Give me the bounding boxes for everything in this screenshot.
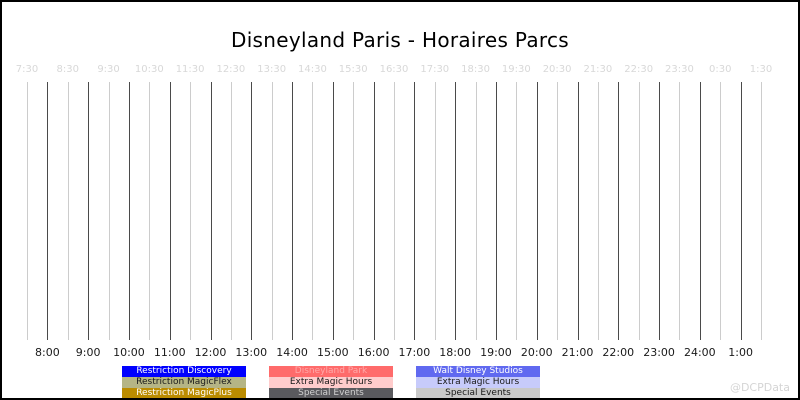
bottom-time-axis: 8:009:0010:0011:0012:0013:0014:0015:0016… [27,346,761,362]
bottom-tick-label: 15:00 [317,346,349,359]
gridline-major [496,82,497,340]
gridline-minor [312,82,313,340]
gridline-minor [476,82,477,340]
top-tick-label: 1:30 [750,64,772,75]
legend-column: Restriction DiscoveryRestriction MagicFl… [122,366,246,400]
top-tick-label: 0:30 [709,64,731,75]
top-tick-label: 21:30 [583,64,612,75]
gridline-minor [435,82,436,340]
bottom-tick-label: 22:00 [602,346,634,359]
gridline-minor [27,82,28,340]
bottom-tick-label: 9:00 [76,346,101,359]
gridline-major [537,82,538,340]
gridline-major [211,82,212,340]
watermark: @DCPData [730,381,790,394]
gridline-minor [557,82,558,340]
gridline-minor [720,82,721,340]
legend-entry[interactable]: Restriction MagicPlus [122,388,246,399]
bottom-tick-label: 12:00 [195,346,227,359]
bottom-tick-label: 10:00 [113,346,145,359]
gridline-major [741,82,742,340]
plot-area [27,82,761,340]
gridline-minor [190,82,191,340]
gridline-minor [272,82,273,340]
top-tick-label: 8:30 [57,64,79,75]
legend-entry[interactable]: Extra Magic Hours [269,377,393,388]
gridline-major [333,82,334,340]
bottom-tick-label: 23:00 [643,346,675,359]
gridline-major [700,82,701,340]
top-tick-label: 20:30 [543,64,572,75]
top-tick-label: 10:30 [135,64,164,75]
gridline-major [170,82,171,340]
bottom-tick-label: 24:00 [684,346,716,359]
gridline-major [578,82,579,340]
top-tick-label: 7:30 [16,64,38,75]
top-tick-label: 19:30 [502,64,531,75]
gridline-minor [149,82,150,340]
gridline-minor [109,82,110,340]
gridline-major [251,82,252,340]
top-tick-label: 13:30 [257,64,286,75]
bottom-tick-label: 16:00 [358,346,390,359]
gridline-minor [68,82,69,340]
gridline-major [618,82,619,340]
top-tick-label: 15:30 [339,64,368,75]
top-tick-label: 11:30 [176,64,205,75]
top-tick-label: 18:30 [461,64,490,75]
page-title: Disneyland Paris - Horaires Parcs [2,28,798,52]
bottom-tick-label: 14:00 [276,346,308,359]
legend-entry[interactable]: Restriction MagicFlex [122,377,246,388]
top-tick-label: 16:30 [380,64,409,75]
gridline-minor [231,82,232,340]
top-tick-label: 14:30 [298,64,327,75]
bottom-tick-label: 1:00 [728,346,753,359]
bottom-tick-label: 11:00 [154,346,186,359]
legend-entry[interactable]: Walt Disney Studios [416,366,540,377]
legend-entry[interactable]: Restriction Discovery [122,366,246,377]
chart-figure: Disneyland Paris - Horaires Parcs 7:308:… [0,0,800,400]
top-tick-label: 9:30 [97,64,119,75]
legend-column: Disneyland ParkExtra Magic HoursSpecial … [269,366,393,400]
gridline-major [455,82,456,340]
gridline-minor [516,82,517,340]
legend-entry[interactable]: Disneyland Park [269,366,393,377]
gridline-major [374,82,375,340]
bottom-tick-label: 17:00 [399,346,431,359]
gridline-minor [761,82,762,340]
bottom-tick-label: 20:00 [521,346,553,359]
gridline-minor [353,82,354,340]
legend-entry[interactable]: Special Events [416,388,540,399]
bottom-tick-label: 18:00 [439,346,471,359]
top-tick-label: 17:30 [420,64,449,75]
bottom-tick-label: 8:00 [35,346,60,359]
top-time-axis: 7:308:309:3010:3011:3012:3013:3014:3015:… [27,64,761,78]
gridline-minor [598,82,599,340]
legend-column: Walt Disney StudiosExtra Magic HoursSpec… [416,366,540,400]
top-tick-label: 12:30 [216,64,245,75]
gridline-major [88,82,89,340]
gridline-major [414,82,415,340]
legend-entry[interactable]: Extra Magic Hours [416,377,540,388]
gridline-major [659,82,660,340]
top-tick-label: 23:30 [665,64,694,75]
legend: Restriction DiscoveryRestriction MagicFl… [122,366,540,400]
gridline-minor [394,82,395,340]
gridline-minor [639,82,640,340]
gridline-major [292,82,293,340]
gridline-minor [679,82,680,340]
bottom-tick-label: 19:00 [480,346,512,359]
top-tick-label: 22:30 [624,64,653,75]
gridline-major [47,82,48,340]
gridline-major [129,82,130,340]
bottom-tick-label: 13:00 [235,346,267,359]
bottom-tick-label: 21:00 [562,346,594,359]
legend-entry[interactable]: Special Events [269,388,393,399]
